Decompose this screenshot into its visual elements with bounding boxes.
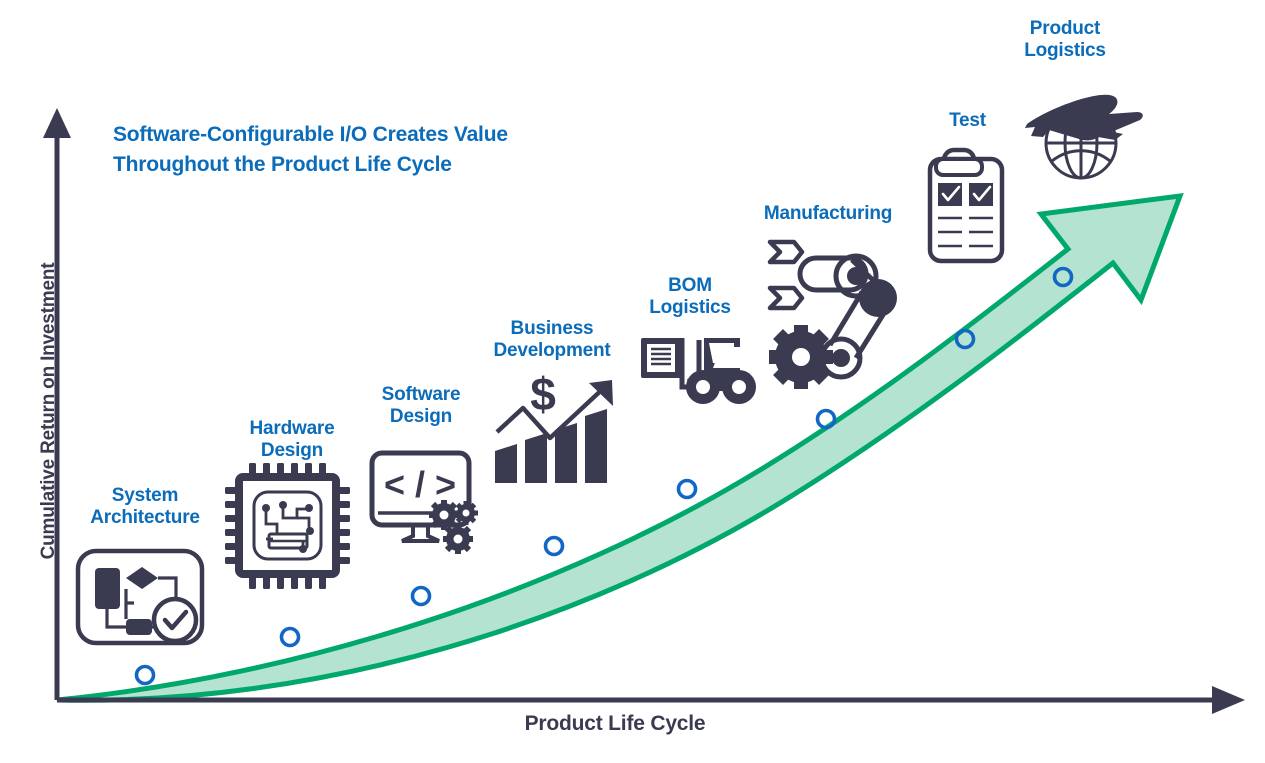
svg-text:< / >: < / >: [384, 464, 456, 505]
stage-label-hardware-design: Hardware Design: [218, 418, 366, 462]
svg-text:$: $: [530, 368, 556, 420]
stage-label-test: Test: [920, 110, 1015, 132]
y-axis-label: Cumulative Return on Investment: [38, 246, 60, 576]
flowchart-check-icon: [78, 551, 202, 643]
microchip-icon: [225, 463, 350, 589]
airplane-silhouette: [1025, 95, 1143, 141]
stage-label-manufacturing: Manufacturing: [737, 203, 919, 225]
headline-text: Software-Configurable I/O Creates Value …: [113, 120, 633, 181]
stage-label-software-design: Software Design: [352, 384, 490, 428]
airplane-globe-icon: [1025, 95, 1143, 178]
diagram-canvas: < / >: [0, 0, 1265, 763]
chart-graphic: < / >: [0, 0, 1265, 763]
forklift-icon: [641, 338, 756, 404]
stage-label-product-logistics: Product Logistics: [1000, 18, 1130, 62]
axis-lines: [43, 108, 1245, 714]
robot-arm-gear-icon: [769, 242, 897, 389]
stage-label-system-architecture: System Architecture: [70, 485, 220, 529]
stage-label-business-development: Business Development: [473, 318, 631, 362]
monitor-code-gears-icon: < / >: [372, 453, 478, 554]
stage-label-bom-logistics: BOM Logistics: [625, 275, 755, 319]
clipboard-checklist-icon: [930, 150, 1002, 261]
bar-chart-arrow-dollar-icon: $: [495, 368, 613, 483]
x-axis-label: Product Life Cycle: [420, 712, 810, 736]
